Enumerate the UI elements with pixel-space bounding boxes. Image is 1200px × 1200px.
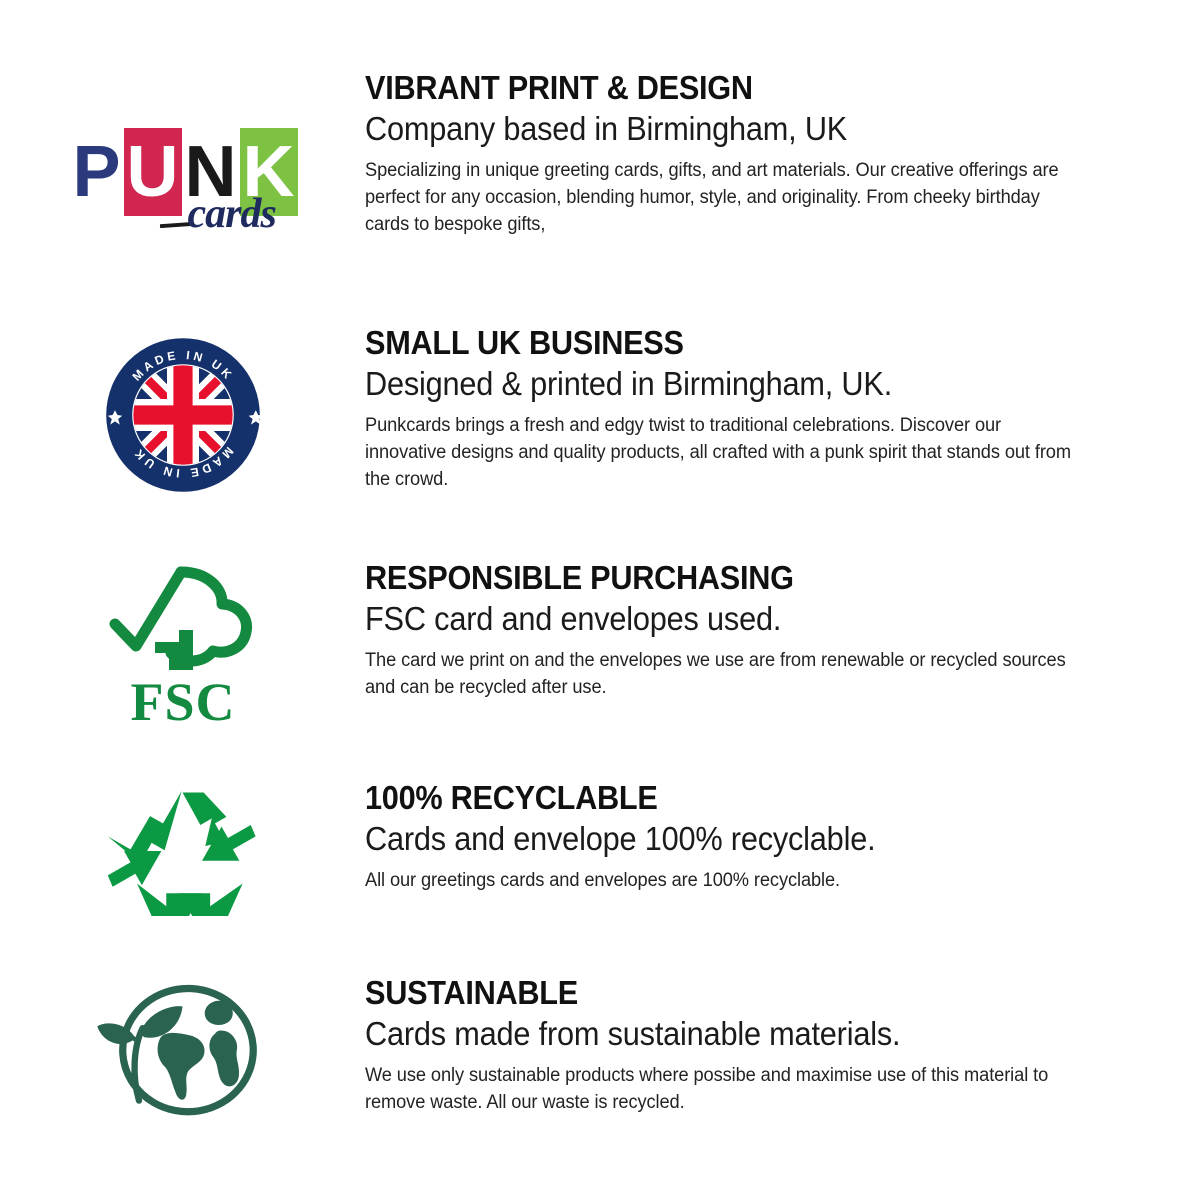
fsc-trunk-shape [155, 630, 193, 670]
features-page: P U N K cards VIBRANT PRINT & DESIGN Com… [0, 0, 1200, 1200]
feature-title-small-uk-business: SMALL UK BUSINESS [365, 325, 1053, 361]
icon-cell-globe [0, 975, 365, 1131]
text-cell-sustainable: SUSTAINABLE Cards made from sustainable … [365, 975, 1200, 1117]
made-in-uk-badge-icon: MADE IN UK MADE IN UK [103, 335, 263, 500]
feature-subtitle-vibrant-print-design: Company based in Birmingham, UK [365, 110, 1053, 148]
icon-cell-recycling [0, 780, 365, 921]
feature-subtitle-100-percent-recyclable: Cards and envelope 100% recyclable. [365, 820, 1053, 858]
fsc-logo-icon: FSC [103, 560, 263, 730]
text-cell-responsible-purchasing: RESPONSIBLE PURCHASING FSC card and enve… [365, 560, 1200, 702]
feature-body-vibrant-print-design: Specializing in unique greeting cards, g… [365, 158, 1075, 239]
feature-row-responsible-purchasing: FSC RESPONSIBLE PURCHASING FSC card and … [0, 560, 1200, 730]
feature-body-responsible-purchasing: The card we print on and the envelopes w… [365, 648, 1075, 702]
feature-title-100-percent-recyclable: 100% RECYCLABLE [365, 780, 1053, 816]
fsc-label: FSC [130, 672, 235, 725]
globe-plant-icon [90, 981, 275, 1131]
feature-row-vibrant-print-design: P U N K cards VIBRANT PRINT & DESIGN Com… [0, 70, 1200, 239]
text-cell-100-percent-recyclable: 100% RECYCLABLE Cards and envelope 100% … [365, 780, 1200, 895]
feature-title-responsible-purchasing: RESPONSIBLE PURCHASING [365, 560, 1053, 596]
icon-cell-made-in-uk: MADE IN UK MADE IN UK [0, 325, 365, 500]
logo-letter-u: U [124, 128, 182, 216]
feature-row-100-percent-recyclable: 100% RECYCLABLE Cards and envelope 100% … [0, 780, 1200, 921]
recycling-symbol-icon [100, 786, 265, 921]
text-cell-small-uk-business: SMALL UK BUSINESS Designed & printed in … [365, 325, 1200, 494]
text-cell-vibrant-print-design: VIBRANT PRINT & DESIGN Company based in … [365, 70, 1200, 239]
feature-subtitle-sustainable: Cards made from sustainable materials. [365, 1015, 1053, 1053]
logo-letter-p: P [68, 128, 126, 216]
logo-script-cards: cards [188, 190, 276, 238]
feature-body-100-percent-recyclable: All our greetings cards and envelopes ar… [365, 868, 1075, 895]
punkcards-logo: P U N K cards [68, 128, 298, 228]
feature-row-sustainable: SUSTAINABLE Cards made from sustainable … [0, 975, 1200, 1131]
feature-title-sustainable: SUSTAINABLE [365, 975, 1053, 1011]
icon-cell-punkcards-logo: P U N K cards [0, 70, 365, 228]
feature-body-sustainable: We use only sustainable products where p… [365, 1063, 1075, 1117]
feature-body-small-uk-business: Punkcards brings a fresh and edgy twist … [365, 413, 1075, 494]
feature-title-vibrant-print-design: VIBRANT PRINT & DESIGN [365, 70, 1053, 106]
feature-subtitle-responsible-purchasing: FSC card and envelopes used. [365, 600, 1053, 638]
feature-subtitle-small-uk-business: Designed & printed in Birmingham, UK. [365, 365, 1053, 403]
icon-cell-fsc: FSC [0, 560, 365, 730]
feature-row-small-uk-business: MADE IN UK MADE IN UK SMALL UK BUSINESS … [0, 325, 1200, 500]
